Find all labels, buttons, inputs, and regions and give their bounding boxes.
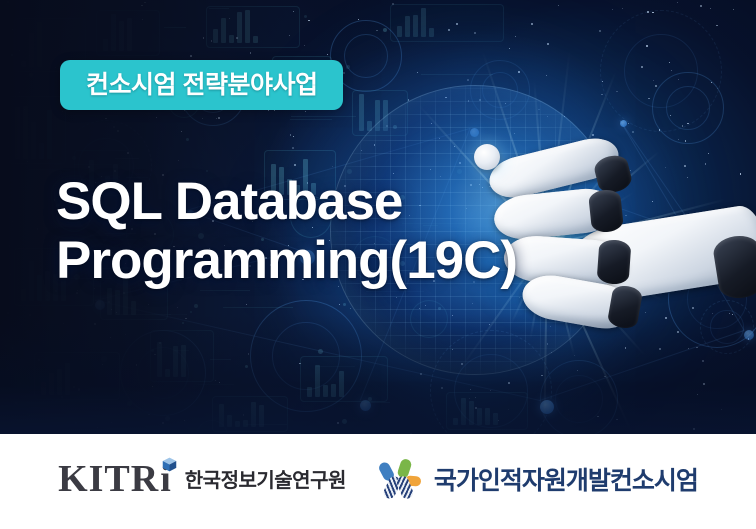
course-title: SQL Database Programming(19C) — [56, 172, 576, 291]
kitri-wordmark-i: i — [160, 460, 171, 498]
course-title-line-2: Programming(19C) — [56, 231, 576, 290]
course-banner: 컨소시엄 전략분야사업 SQL Database Programming(19C… — [0, 0, 756, 529]
hero-bottom-vignette — [0, 314, 756, 434]
kitri-cube-icon — [162, 441, 177, 456]
course-title-line-1: SQL Database — [56, 172, 576, 231]
nhrd-name-korean: 국가인적자원개발컨소시엄 — [434, 461, 698, 497]
hero-background-image: 컨소시엄 전략분야사업 SQL Database Programming(19C… — [0, 0, 756, 434]
nhrd-logo-group: 국가인적자원개발컨소시엄 — [380, 459, 698, 499]
kitri-logo-group: KITR i 한국정보기술연구원 — [58, 460, 346, 498]
program-category-label: 컨소시엄 전략분야사업 — [86, 73, 317, 98]
footer-logo-bar: KITR i 한국정보기술연구원 — [0, 434, 756, 529]
kitri-wordmark: KITR — [58, 460, 159, 498]
pinwheel-icon — [380, 459, 420, 499]
program-category-badge: 컨소시엄 전략분야사업 — [60, 60, 343, 110]
kitri-logo: KITR i — [58, 460, 171, 498]
kitri-name-korean: 한국정보기술연구원 — [185, 464, 346, 493]
